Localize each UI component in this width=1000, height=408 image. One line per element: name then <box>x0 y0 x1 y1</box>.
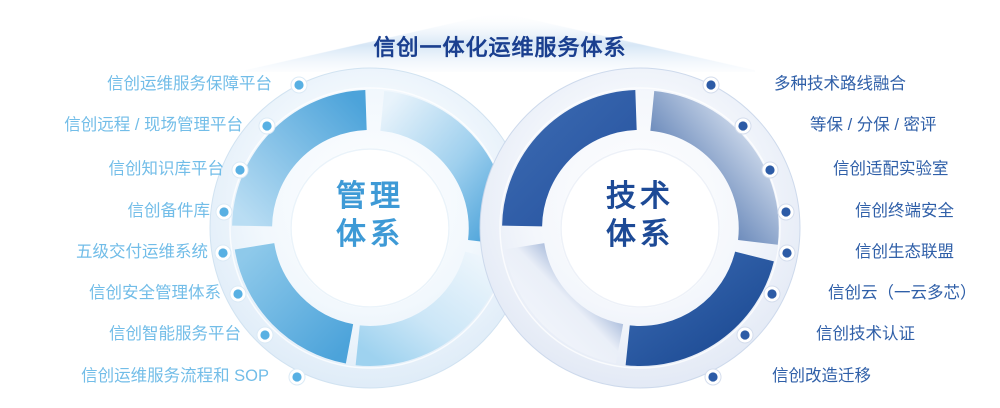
page-title: 信创一体化运维服务体系 <box>0 30 1000 62</box>
left-node-dot-1[interactable] <box>262 121 271 130</box>
left-service-label-1[interactable]: 信创远程 / 现场管理平台 <box>64 117 243 134</box>
left-node-dot-5[interactable] <box>233 289 242 298</box>
right-node-dot-7[interactable] <box>708 372 717 381</box>
right-node-dot-3[interactable] <box>781 207 790 216</box>
right-node-dot-2[interactable] <box>765 165 774 174</box>
right-node-dot-4[interactable] <box>782 248 791 257</box>
diagram-canvas: 信创一体化运维服务体系 管理 体系 技术 体系 信创运维服务保障平台信创远程 /… <box>0 0 1000 408</box>
left-node-dot-6[interactable] <box>260 330 269 339</box>
right-service-label-2[interactable]: 信创适配实验室 <box>833 161 949 178</box>
left-service-label-5[interactable]: 信创安全管理体系 <box>89 285 221 302</box>
left-service-label-3[interactable]: 信创备件库 <box>128 203 211 220</box>
right-node-dot-1[interactable] <box>738 121 747 130</box>
right-service-label-5[interactable]: 信创云（一云多芯） <box>828 285 977 302</box>
left-node-dot-7[interactable] <box>292 372 301 381</box>
right-node-dot-0[interactable] <box>706 80 715 89</box>
left-node-dot-0[interactable] <box>294 80 303 89</box>
left-service-label-6[interactable]: 信创智能服务平台 <box>109 326 241 343</box>
right-service-label-1[interactable]: 等保 / 分保 / 密评 <box>810 117 937 134</box>
left-service-label-4[interactable]: 五级交付运维系统 <box>76 244 208 261</box>
left-node-dot-4[interactable] <box>218 248 227 257</box>
left-node-dot-2[interactable] <box>235 165 244 174</box>
right-service-label-6[interactable]: 信创技术认证 <box>816 326 915 343</box>
left-node-dot-3[interactable] <box>219 207 228 216</box>
left-service-label-0[interactable]: 信创运维服务保障平台 <box>107 76 272 93</box>
left-service-label-7[interactable]: 信创运维服务流程和 SOP <box>81 368 269 385</box>
right-service-label-3[interactable]: 信创终端安全 <box>855 203 954 220</box>
hub-caption-management-system: 管理 体系 <box>300 178 440 255</box>
right-service-label-4[interactable]: 信创生态联盟 <box>855 244 954 261</box>
right-node-dot-6[interactable] <box>740 330 749 339</box>
right-node-dot-5[interactable] <box>767 289 776 298</box>
right-service-label-7[interactable]: 信创改造迁移 <box>772 368 871 385</box>
hub-caption-technology-system: 技术 体系 <box>570 178 710 255</box>
left-service-label-2[interactable]: 信创知识库平台 <box>109 161 225 178</box>
right-service-label-0[interactable]: 多种技术路线融合 <box>774 76 906 93</box>
